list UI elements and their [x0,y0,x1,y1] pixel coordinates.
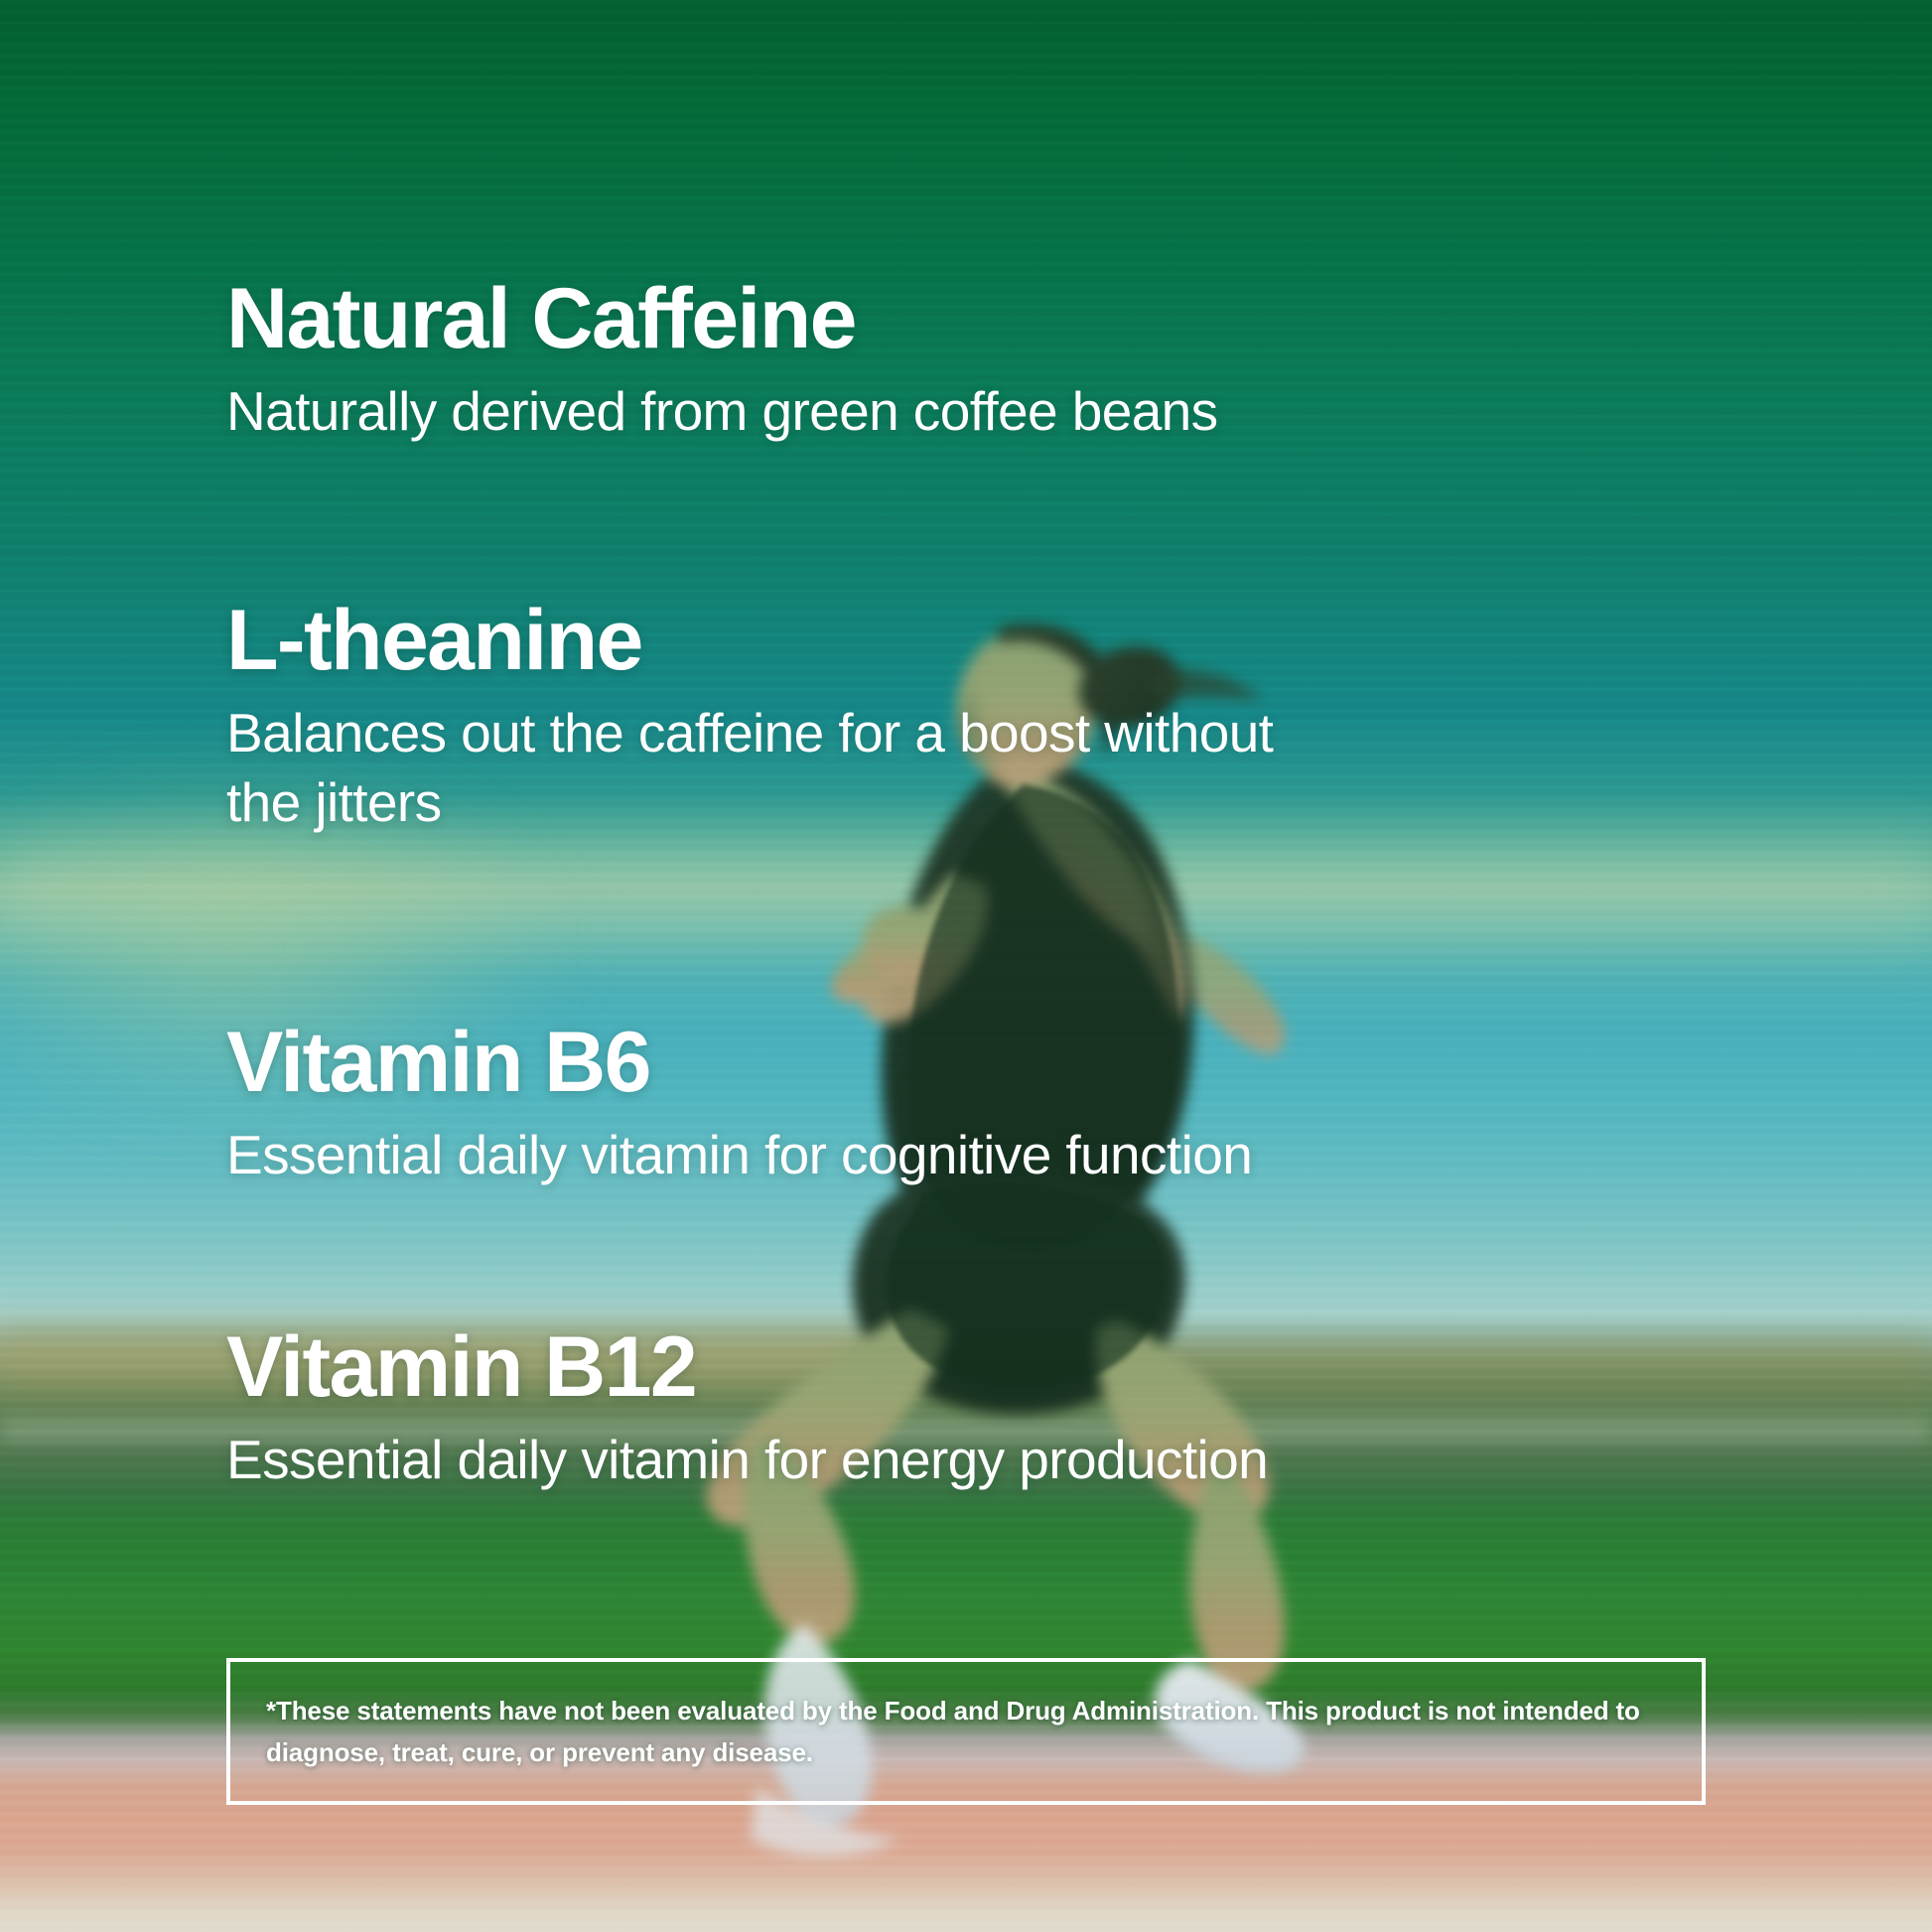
ingredient-description: Essential daily vitamin for energy produ… [226,1426,1716,1495]
ingredient-title: Natural Caffeine [226,274,1716,363]
ingredient-description: Naturally derived from green coffee bean… [226,377,1716,447]
fda-disclaimer-text: *These statements have not been evaluate… [230,1690,1702,1773]
ingredient-title: L-theanine [226,596,1716,685]
ingredient-item: Vitamin B6 Essential daily vitamin for c… [226,1018,1716,1190]
ingredient-panel: Natural Caffeine Naturally derived from … [0,0,1932,1932]
ingredient-item: Natural Caffeine Naturally derived from … [226,274,1716,447]
ingredient-description: Essential daily vitamin for cognitive fu… [226,1121,1716,1190]
ingredient-item: Vitamin B12 Essential daily vitamin for … [226,1322,1716,1495]
ingredient-title: Vitamin B6 [226,1018,1716,1107]
ingredient-title: Vitamin B12 [226,1322,1716,1412]
fda-disclaimer-box: *These statements have not been evaluate… [226,1658,1706,1805]
ingredient-list: Natural Caffeine Naturally derived from … [226,0,1716,1932]
ingredient-item: L-theanine Balances out the caffeine for… [226,596,1716,838]
ingredient-description: Balances out the caffeine for a boost wi… [226,699,1299,838]
